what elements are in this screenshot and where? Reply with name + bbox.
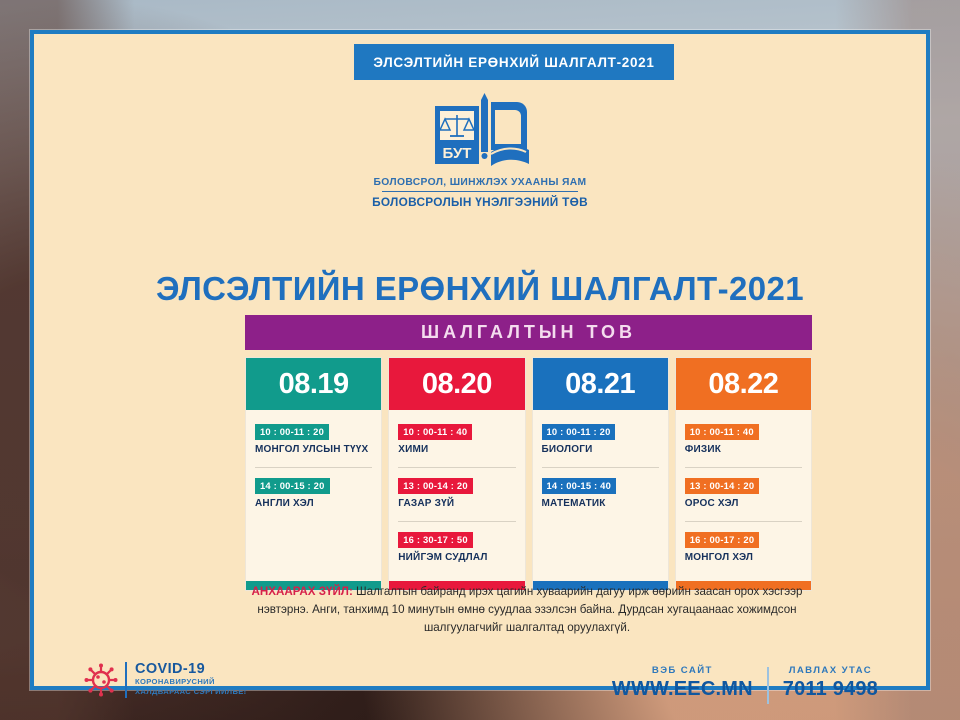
session-subject: ФИЗИК bbox=[685, 444, 802, 455]
svg-text:БУТ: БУТ bbox=[443, 145, 472, 162]
session-time-badge: 13 : 00-14 : 20 bbox=[685, 478, 760, 494]
ministry-name: БОЛОВСРОЛ, ШИНЖЛЭХ УХААНЫ ЯАМ bbox=[374, 177, 587, 188]
session-subject: МОНГОЛ ХЭЛ bbox=[685, 552, 802, 563]
session-row: 10 : 00-11 : 20МОНГОЛ УЛСЫН ТҮҮХ bbox=[255, 422, 372, 462]
top-ribbon-text: ЭЛСЭЛТИЙН ЕРӨНХИЙ ШАЛГАЛТ-2021 bbox=[373, 55, 654, 70]
contacts-divider bbox=[767, 667, 769, 704]
session-subject: МОНГОЛ УЛСЫН ТҮҮХ bbox=[255, 444, 372, 455]
coronavirus-icon bbox=[84, 663, 118, 697]
session-time-badge: 14 : 00-15 : 20 bbox=[255, 478, 330, 494]
session-subject: АНГЛИ ХЭЛ bbox=[255, 498, 372, 509]
session-row: 16 : 00-17 : 20МОНГОЛ ХЭЛ bbox=[685, 521, 802, 570]
session-subject: ХИМИ bbox=[398, 444, 515, 455]
day-date: 08.22 bbox=[676, 358, 811, 410]
day-card: 08.2110 : 00-11 : 20БИОЛОГИ14 : 00-15 : … bbox=[532, 357, 669, 591]
footer-contacts: ВЭБ САЙТ WWW.EEC.MN ЛАВЛАХ УТАС 7011 949… bbox=[612, 665, 878, 704]
day-sessions: 10 : 00-11 : 20БИОЛОГИ14 : 00-15 : 40МАТ… bbox=[533, 410, 668, 581]
day-sessions: 10 : 00-11 : 40ФИЗИК13 : 00-14 : 20ОРОС … bbox=[676, 410, 811, 581]
session-row: 14 : 00-15 : 20АНГЛИ ХЭЛ bbox=[255, 467, 372, 516]
phone-value[interactable]: 7011 9498 bbox=[783, 678, 878, 701]
center-name: БОЛОВСРОЛЫН ҮНЭЛГЭЭНИЙ ТӨВ bbox=[372, 195, 588, 209]
day-card: 08.2010 : 00-11 : 40ХИМИ13 : 00-14 : 20Г… bbox=[388, 357, 525, 591]
day-card: 08.2210 : 00-11 : 40ФИЗИК13 : 00-14 : 20… bbox=[675, 357, 812, 591]
day-date: 08.21 bbox=[533, 358, 668, 410]
top-ribbon: ЭЛСЭЛТИЙН ЕРӨНХИЙ ШАЛГАЛТ-2021 bbox=[354, 44, 674, 80]
session-time-badge: 10 : 00-11 : 40 bbox=[398, 424, 472, 440]
day-card: 08.1910 : 00-11 : 20МОНГОЛ УЛСЫН ТҮҮХ14 … bbox=[245, 357, 382, 591]
covid-text-block: COVID-19 КОРОНАВИРУСНИЙ ХАЛДВАРААС СЭРГИ… bbox=[125, 662, 247, 698]
session-row: 13 : 00-14 : 20ОРОС ХЭЛ bbox=[685, 467, 802, 516]
session-time-badge: 10 : 00-11 : 20 bbox=[542, 424, 616, 440]
day-date: 08.19 bbox=[246, 358, 381, 410]
session-row: 10 : 00-11 : 20БИОЛОГИ bbox=[542, 422, 659, 462]
session-row: 13 : 00-14 : 20ГАЗАР ЗҮЙ bbox=[398, 467, 515, 516]
poster-card: ЭЛСЭЛТИЙН ЕРӨНХИЙ ШАЛГАЛТ-2021 БУТ БОЛОВ… bbox=[30, 30, 930, 690]
session-subject: МАТЕМАТИК bbox=[542, 498, 659, 509]
attention-note: АНХААРАХ ЗҮЙЛ: Шалгалтын байранд ирэх ца… bbox=[232, 583, 822, 637]
session-subject: БИОЛОГИ bbox=[542, 444, 659, 455]
page-title: ЭЛСЭЛТИЙН ЕРӨНХИЙ ШАЛГАЛТ-2021 bbox=[34, 270, 926, 308]
sub-banner-text: ШАЛГАЛТЫН ТОВ bbox=[421, 322, 636, 343]
session-time-badge: 16 : 30-17 : 50 bbox=[398, 532, 473, 548]
day-sessions: 10 : 00-11 : 40ХИМИ13 : 00-14 : 20ГАЗАР … bbox=[389, 410, 524, 581]
session-row: 14 : 00-15 : 40МАТЕМАТИК bbox=[542, 467, 659, 516]
covid-notice: COVID-19 КОРОНАВИРУСНИЙ ХАЛДВАРААС СЭРГИ… bbox=[84, 662, 247, 698]
session-row: 10 : 00-11 : 40ФИЗИК bbox=[685, 422, 802, 462]
session-row: 16 : 30-17 : 50НИЙГЭМ СУДЛАЛ bbox=[398, 521, 515, 570]
session-time-badge: 10 : 00-11 : 20 bbox=[255, 424, 329, 440]
sub-banner: ШАЛГАЛТЫН ТОВ bbox=[245, 315, 812, 350]
logo-block: БУТ БОЛОВСРОЛ, ШИНЖЛЭХ УХААНЫ ЯАМ БОЛОВС… bbox=[34, 92, 926, 209]
session-subject: НИЙГЭМ СУДЛАЛ bbox=[398, 552, 515, 563]
session-time-badge: 10 : 00-11 : 40 bbox=[685, 424, 759, 440]
session-row: 10 : 00-11 : 40ХИМИ bbox=[398, 422, 515, 462]
day-sessions: 10 : 00-11 : 20МОНГОЛ УЛСЫН ТҮҮХ14 : 00-… bbox=[246, 410, 381, 581]
session-subject: ОРОС ХЭЛ bbox=[685, 498, 802, 509]
schedule-grid: 08.1910 : 00-11 : 20МОНГОЛ УЛСЫН ТҮҮХ14 … bbox=[245, 357, 812, 591]
phone-block[interactable]: ЛАВЛАХ УТАС 7011 9498 bbox=[783, 665, 878, 701]
session-subject: ГАЗАР ЗҮЙ bbox=[398, 498, 515, 509]
attention-note-label: АНХААРАХ ЗҮЙЛ: bbox=[252, 585, 353, 598]
day-date: 08.20 bbox=[389, 358, 524, 410]
covid-subtitle-line2: ХАЛДВАРААС СЭРГИЙЛЬЕ! bbox=[135, 687, 247, 697]
website-block[interactable]: ВЭБ САЙТ WWW.EEC.MN bbox=[612, 665, 753, 701]
logo-divider bbox=[382, 191, 578, 193]
phone-label: ЛАВЛАХ УТАС bbox=[789, 665, 872, 676]
session-time-badge: 13 : 00-14 : 20 bbox=[398, 478, 473, 494]
eec-logo-icon: БУТ bbox=[421, 92, 539, 174]
website-value[interactable]: WWW.EEC.MN bbox=[612, 678, 753, 701]
website-label: ВЭБ САЙТ bbox=[652, 665, 713, 676]
session-time-badge: 16 : 00-17 : 20 bbox=[685, 532, 760, 548]
covid-title: COVID-19 bbox=[135, 662, 247, 677]
covid-subtitle-line1: КОРОНАВИРУСНИЙ bbox=[135, 677, 247, 687]
session-time-badge: 14 : 00-15 : 40 bbox=[542, 478, 617, 494]
